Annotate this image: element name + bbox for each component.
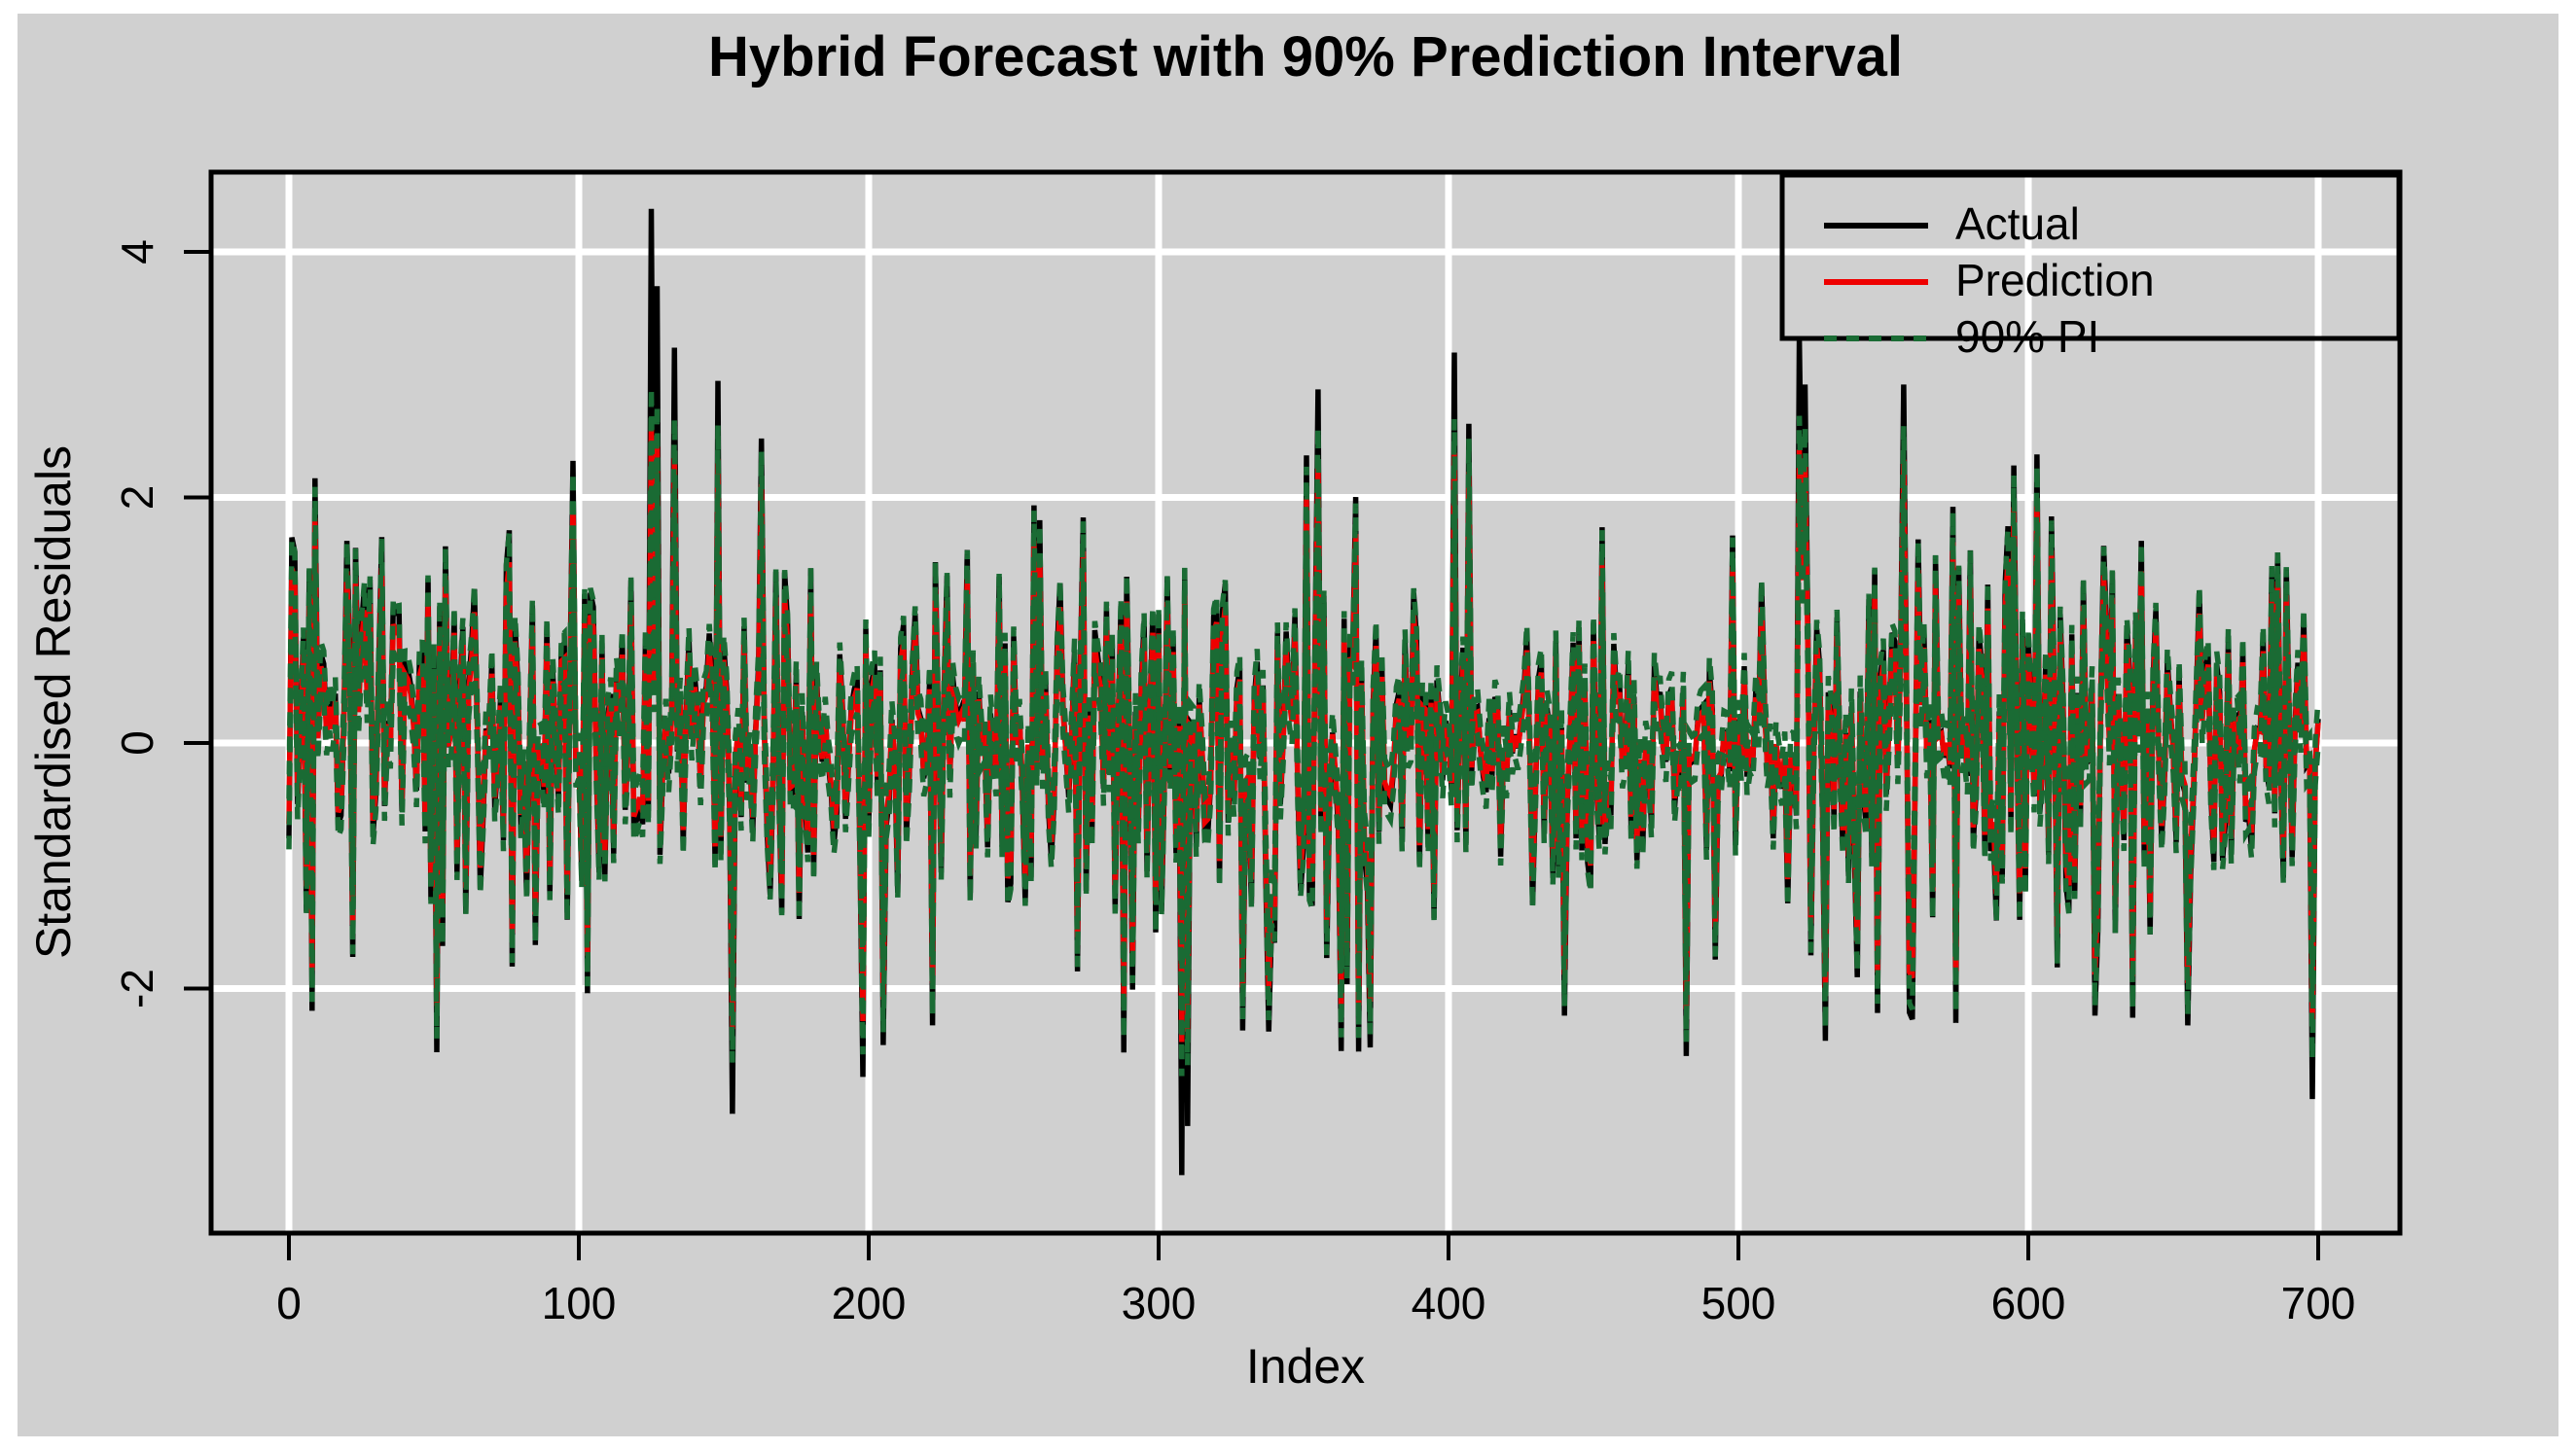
legend-label-0: Actual xyxy=(1955,198,2080,249)
x-tick-label: 700 xyxy=(2281,1278,2356,1328)
x-axis-tick-labels: 0100200300400500600700 xyxy=(276,1278,2355,1328)
y-tick-label: 4 xyxy=(112,239,162,265)
legend-label-2: 90% PI xyxy=(1955,311,2099,362)
y-axis-label: Standardised Residuals xyxy=(26,445,81,959)
y-tick-label: 2 xyxy=(112,485,162,511)
x-axis-label: Index xyxy=(1246,1339,1365,1394)
legend[interactable]: ActualPrediction90% PI xyxy=(1782,175,2399,362)
x-tick-label: 500 xyxy=(1701,1278,1776,1328)
legend-label-1: Prediction xyxy=(1955,255,2155,305)
x-tick-label: 100 xyxy=(542,1278,617,1328)
x-axis-ticks xyxy=(289,1233,2318,1260)
x-tick-label: 400 xyxy=(1412,1278,1486,1328)
y-tick-label: -2 xyxy=(112,969,162,1008)
forecast-chart: 0100200300400500600700 -2024 Hybrid Fore… xyxy=(0,0,2576,1450)
x-tick-label: 0 xyxy=(276,1278,302,1328)
x-tick-label: 600 xyxy=(1991,1278,2066,1328)
x-tick-label: 300 xyxy=(1122,1278,1197,1328)
chart-title: Hybrid Forecast with 90% Prediction Inte… xyxy=(708,25,1903,88)
x-tick-label: 200 xyxy=(832,1278,907,1328)
y-tick-label: 0 xyxy=(112,730,162,756)
y-axis-ticks xyxy=(184,252,211,989)
y-axis-tick-labels: -2024 xyxy=(112,239,162,1008)
